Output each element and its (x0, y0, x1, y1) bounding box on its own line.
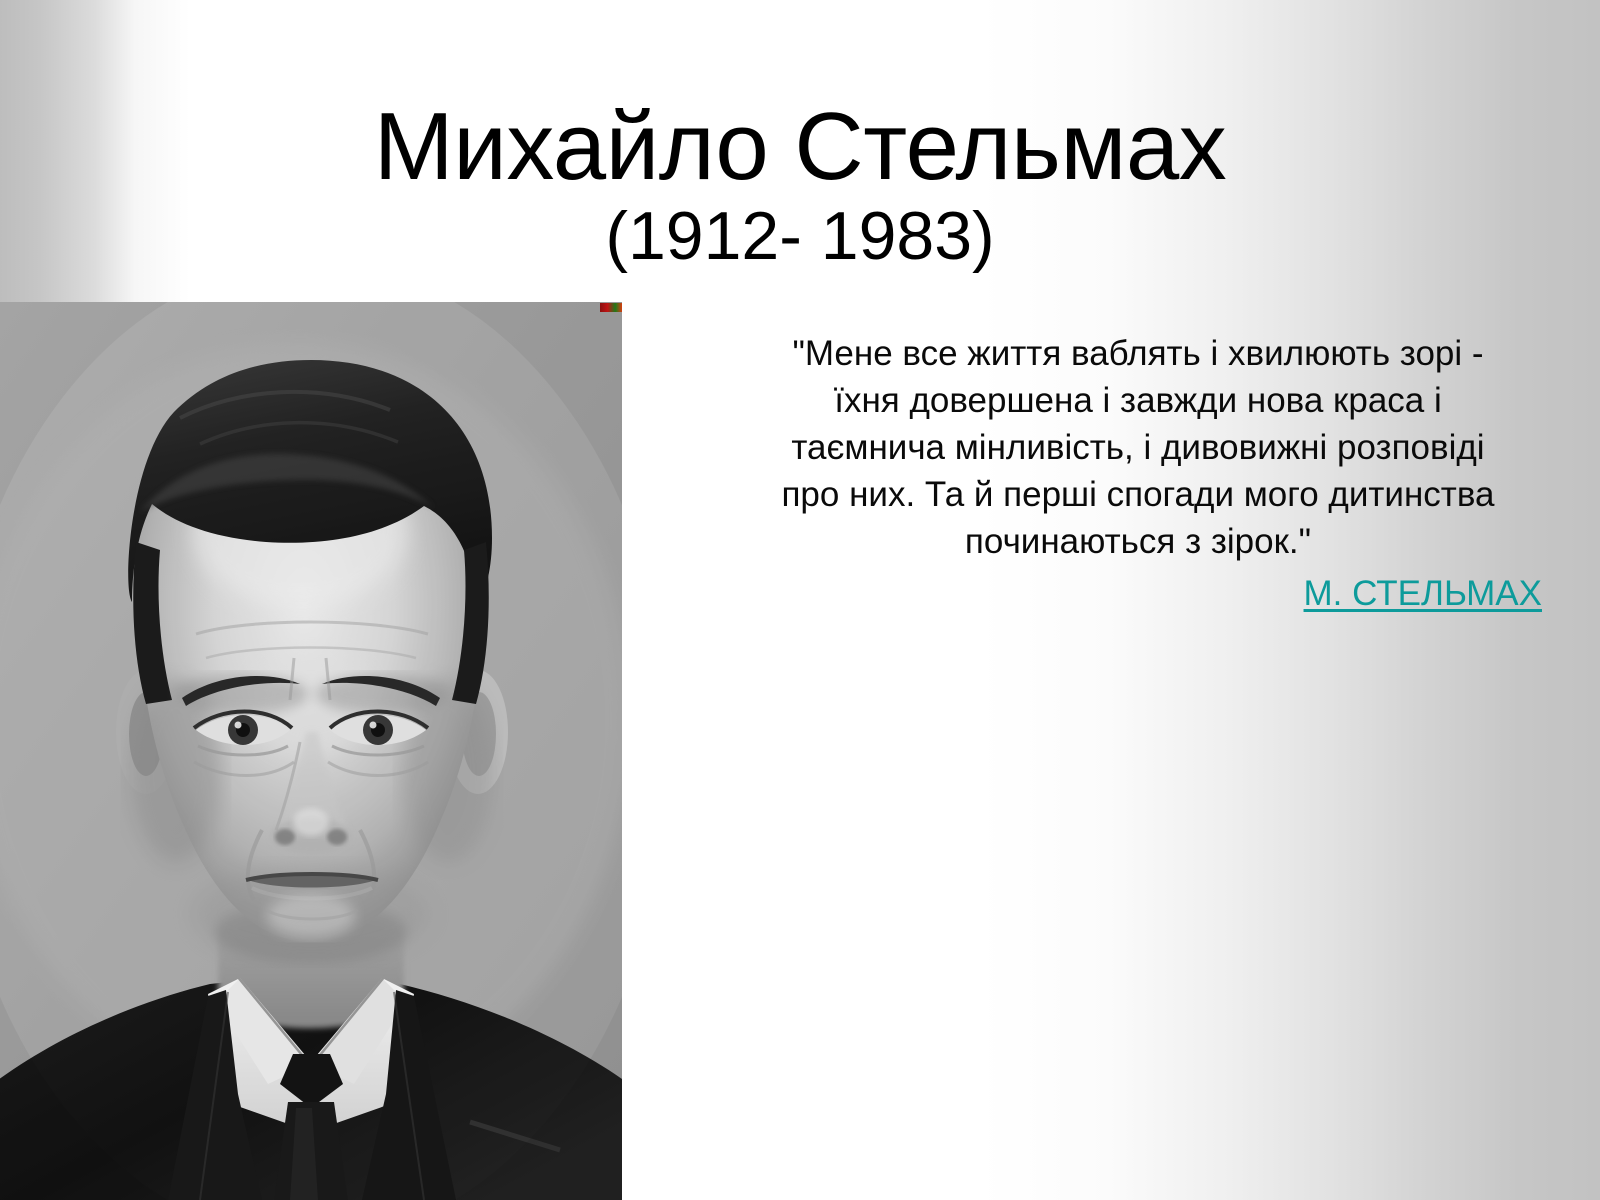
quote-line: їхня довершена і завжди нова краса і (728, 377, 1548, 424)
title-years-subtitle: (1912- 1983) (0, 201, 1600, 272)
quote-line: починаються з зірок." (728, 518, 1548, 565)
quote-attribution-row: М. СТЕЛЬМАХ (728, 572, 1548, 616)
quote-line: про них. Та й перші спогади мого дитинст… (728, 471, 1548, 518)
page-title: Михайло Стельмах (0, 96, 1600, 199)
quote-block: "Мене все життя ваблять і хвилюють зорі … (728, 330, 1548, 616)
title-block: Михайло Стельмах (1912- 1983) (0, 96, 1600, 272)
quote-line: "Мене все життя ваблять і хвилюють зорі … (728, 330, 1548, 377)
portrait-photo-image (0, 302, 622, 1200)
portrait-photo (0, 302, 622, 1200)
photo-corner-artifact (600, 303, 622, 312)
quote-attribution-link[interactable]: М. СТЕЛЬМАХ (1304, 572, 1542, 616)
quote-text: "Мене все життя ваблять і хвилюють зорі … (728, 330, 1548, 565)
presentation-slide: Михайло Стельмах (1912- 1983) (0, 0, 1600, 1200)
quote-line: таємнича мінливість, і дивовижні розпові… (728, 424, 1548, 471)
